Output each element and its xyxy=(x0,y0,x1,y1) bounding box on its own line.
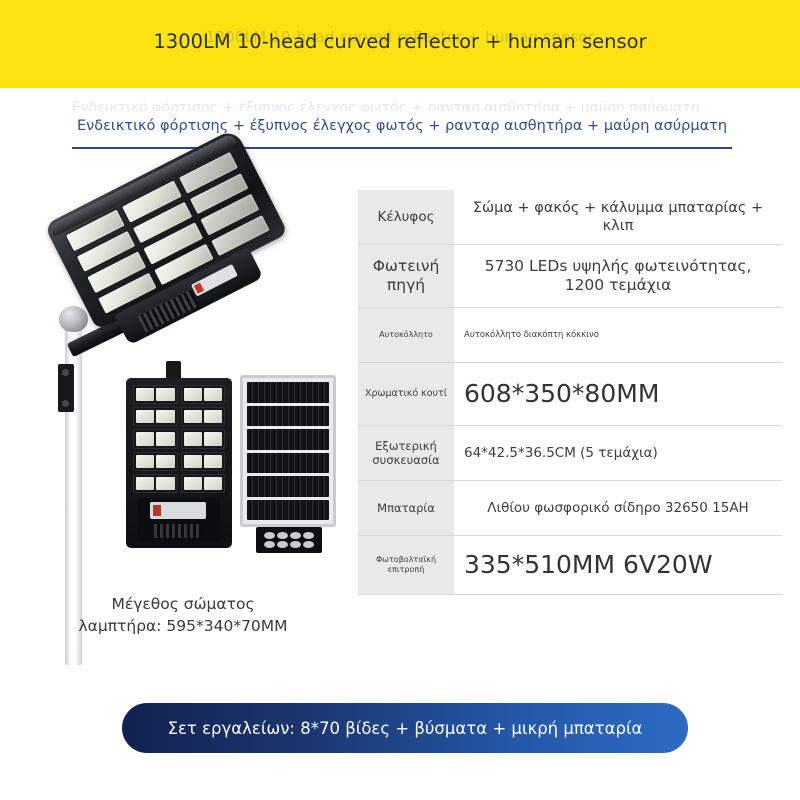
front-led-module xyxy=(133,452,178,471)
front-led-grid xyxy=(133,385,225,493)
led-chip xyxy=(136,388,154,401)
specifications-table: Κέλυφος Σώμα + φακός + κάλυμμα μπαταρίας… xyxy=(358,190,782,595)
table-row: Κέλυφος Σώμα + φακός + κάλυμμα μπαταρίας… xyxy=(358,190,782,245)
led-chip xyxy=(204,432,222,445)
spec-label: Εξωτερική συσκευασία xyxy=(358,426,454,480)
base-dot xyxy=(290,541,301,548)
led-chip xyxy=(136,455,154,468)
spec-value: 608*350*80MM xyxy=(454,363,782,425)
lamp-front-view xyxy=(126,378,232,548)
led-chip xyxy=(204,388,222,401)
front-led-module xyxy=(181,407,226,426)
base-dot xyxy=(264,532,275,539)
led-chip xyxy=(156,477,174,490)
led-chip xyxy=(204,455,222,468)
pole-cap xyxy=(59,306,88,332)
front-led-module xyxy=(181,429,226,448)
led-chip xyxy=(136,410,154,423)
front-vents xyxy=(154,524,202,538)
base-dot xyxy=(303,541,314,548)
toolkit-banner-text: Σετ εργαλείων: 8*70 βίδες + βύσματα + μι… xyxy=(168,719,643,738)
spec-label: Φωτοβολταϊκή επιτροπή xyxy=(358,536,454,594)
subtitle-text: Ενδεικτικό φόρτισης + έξυπνος έλεγχος φω… xyxy=(72,118,732,134)
table-row: Εξωτερική συσκευασία 64*42.5*36.5CM (5 τ… xyxy=(358,426,782,481)
spec-label: Μπαταρία xyxy=(358,481,454,535)
front-led-module xyxy=(133,407,178,426)
solar-cell-row xyxy=(247,429,329,450)
led-chip xyxy=(184,477,202,490)
solar-cell-row xyxy=(247,453,329,474)
front-led-module xyxy=(133,429,178,448)
led-chip xyxy=(184,410,202,423)
led-chip xyxy=(136,432,154,445)
front-led-module xyxy=(181,385,226,404)
base-dot xyxy=(264,541,275,548)
solar-cell-row xyxy=(247,406,329,427)
spec-label: Χρωματικό κουτί xyxy=(358,363,454,425)
toolkit-banner: Σετ εργαλείων: 8*70 βίδες + βύσματα + μι… xyxy=(122,703,688,753)
front-led-module xyxy=(181,474,226,493)
table-row: Χρωματικό κουτί 608*350*80MM xyxy=(358,363,782,426)
table-row: Φωτοβολταϊκή επιτροπή 335*510MM 6V20W xyxy=(358,536,782,595)
pole-bracket-plate xyxy=(58,364,74,412)
table-row: Μπαταρία Λιθίου φωσφορικό σίδηρο 32650 1… xyxy=(358,481,782,536)
caption-line-2: λαμπτήρα: 595*340*70MM xyxy=(18,615,348,637)
product-image-panel: Μέγεθος σώματος λαμπτήρα: 595*340*70MM xyxy=(18,175,348,665)
header-overlay-mask xyxy=(120,57,680,79)
solar-cell-row xyxy=(247,500,329,521)
product-spec-page: 1300LM 10-head curved reflector + human … xyxy=(0,0,800,800)
spec-label: Αυτοκόλλητο xyxy=(358,308,454,362)
led-chip xyxy=(136,477,154,490)
spec-value: Λιθίου φωσφορικό σίδηρο 32650 15AH xyxy=(454,481,782,535)
led-chip xyxy=(156,388,174,401)
led-chip xyxy=(156,410,174,423)
front-control-panel xyxy=(150,502,206,519)
spec-value: Αυτοκόλλητο διακόπτη κόκκινο xyxy=(454,308,782,362)
product-size-caption: Μέγεθος σώματος λαμπτήρα: 595*340*70MM xyxy=(18,593,348,637)
subtitle-underline xyxy=(72,147,732,149)
solar-cell-grid xyxy=(247,382,329,520)
table-row: Αυτοκόλλητο Αυτοκόλλητο διακόπτη κόκκινο xyxy=(358,308,782,363)
base-dot xyxy=(303,532,314,539)
led-chip xyxy=(156,432,174,445)
led-chip xyxy=(204,410,222,423)
front-led-module xyxy=(181,452,226,471)
spec-value: 64*42.5*36.5CM (5 τεμάχια) xyxy=(454,426,782,480)
solar-cell-row xyxy=(247,382,329,403)
led-chip xyxy=(184,388,202,401)
base-dot xyxy=(290,532,301,539)
spec-label: Φωτεινή πηγή xyxy=(358,245,454,307)
front-led-module xyxy=(133,474,178,493)
front-led-module xyxy=(133,385,178,404)
led-chip xyxy=(204,477,222,490)
led-chip xyxy=(156,455,174,468)
solar-panel xyxy=(240,375,336,527)
led-chip xyxy=(184,455,202,468)
spec-value: 335*510MM 6V20W xyxy=(454,536,782,594)
base-dot xyxy=(277,541,288,548)
table-row: Φωτεινή πηγή 5730 LEDs υψηλής φωτεινότητ… xyxy=(358,245,782,308)
header-band: 1300LM 10-head curved reflector + human … xyxy=(0,0,800,88)
base-dot xyxy=(277,532,288,539)
solar-panel-base-dots xyxy=(264,532,314,548)
page-title: 1300LM 10-head curved reflector + human … xyxy=(0,30,800,53)
spec-label: Κέλυφος xyxy=(358,190,454,244)
spec-value: Σώμα + φακός + κάλυμμα μπαταρίας + κλιπ xyxy=(454,190,782,244)
solar-cell-row xyxy=(247,476,329,497)
led-chip xyxy=(184,432,202,445)
spec-value: 5730 LEDs υψηλής φωτεινότητας, 1200 τεμά… xyxy=(454,245,782,307)
caption-line-1: Μέγεθος σώματος xyxy=(18,593,348,615)
